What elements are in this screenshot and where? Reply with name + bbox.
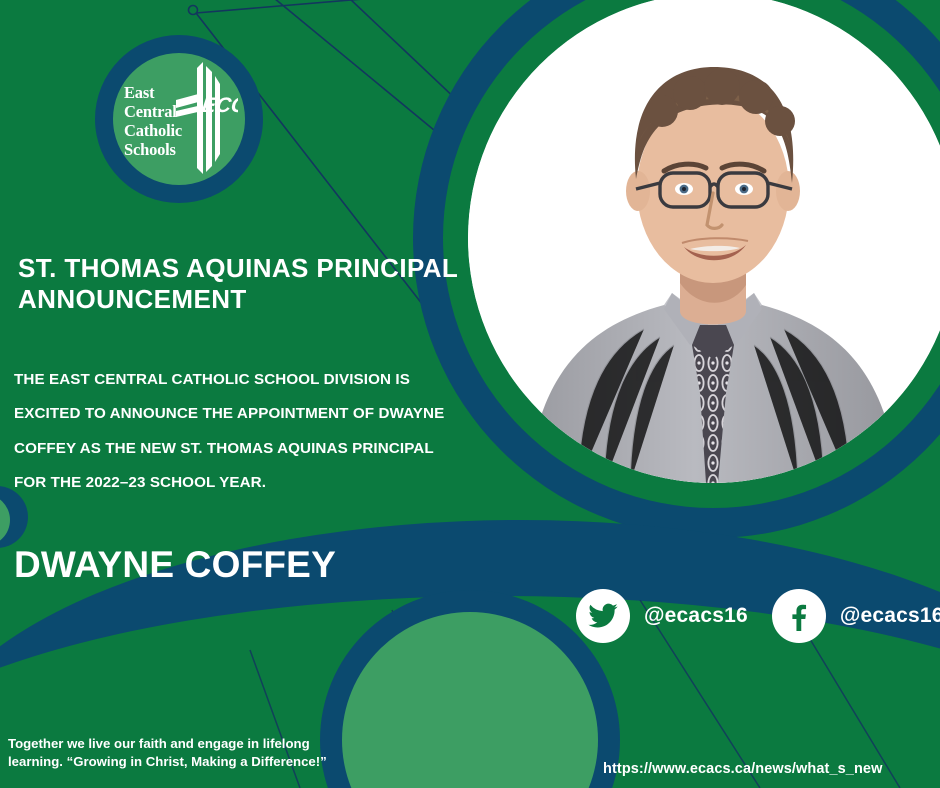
- announcement-poster: East Central Catholic Schools ECCS ST. T…: [0, 0, 940, 788]
- page-title: ST. THOMAS AQUINAS PRINCIPAL ANNOUNCEMEN…: [18, 253, 488, 314]
- division-tagline: Together we live our faith and engage in…: [8, 735, 328, 770]
- bottom-left-circle-fill: [342, 612, 598, 788]
- facebook-f-icon[interactable]: [772, 589, 826, 643]
- social-links: @ecacs16 @ecacs16: [576, 589, 940, 643]
- facebook-handle[interactable]: @ecacs16: [840, 604, 940, 628]
- news-url[interactable]: https://www.ecacs.ca/news/what_s_new: [603, 761, 882, 777]
- photo-outer-ring-navy: [413, 0, 940, 538]
- cross-icon: ECCS: [172, 62, 238, 178]
- principal-name: DWAYNE COFFEY: [14, 544, 336, 586]
- twitter-handle[interactable]: @ecacs16: [644, 604, 748, 628]
- photo-inner-ring-green: [443, 0, 940, 508]
- left-edge-circle-fill: [0, 494, 10, 546]
- bottom-left-circle-ring: [320, 590, 620, 788]
- person-photo: [468, 0, 940, 483]
- logo-monogram: ECCS: [200, 94, 238, 117]
- social-item-twitter[interactable]: @ecacs16: [576, 589, 748, 643]
- social-item-facebook[interactable]: @ecacs16: [772, 589, 940, 643]
- twitter-bird-icon[interactable]: [576, 589, 630, 643]
- node-dot-decoration: [189, 6, 198, 15]
- announcement-body: THE EAST CENTRAL CATHOLIC SCHOOL DIVISIO…: [14, 363, 454, 500]
- portrait-disc: [468, 0, 940, 483]
